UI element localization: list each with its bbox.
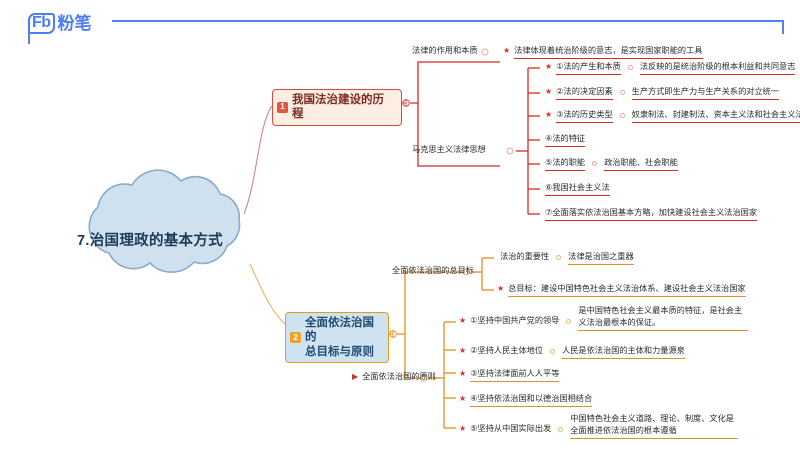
leaf-row-r9[interactable]: 法治的重要性 法律是治国之重器: [500, 251, 634, 265]
star-bullet-icon: ★: [459, 315, 466, 327]
collapse-dot-icon[interactable]: [566, 319, 571, 324]
leaf-row-r1[interactable]: ★ 法律体现着统治阶级的意志，是实现国家职能的工具: [503, 45, 703, 59]
leaf-row-r7[interactable]: ⑥我国社会主义法: [545, 182, 610, 196]
branch-node-1[interactable]: 1 我国法治建设的历程: [272, 89, 402, 126]
branch-1-badge: 1: [277, 102, 288, 113]
branch-node-2[interactable]: 2 全面依法治国的 总目标与原则: [285, 312, 389, 363]
mindmap-canvas: Fb 粉笔: [0, 0, 800, 450]
leaf-row-r4[interactable]: ★ ③法的历史类型 奴隶制法、封建制法、资本主义法和社会主义法: [545, 109, 800, 123]
leaf-label: ③坚持法律面前人人平等: [470, 368, 559, 382]
group-label-text: 马克思主义法律思想: [412, 144, 486, 156]
leaf-label: ④法的特征: [545, 133, 585, 147]
leaf-label: ③法的历史类型: [556, 109, 612, 123]
star-bullet-icon: ★: [459, 423, 466, 435]
root-node[interactable]: 7.治国理政的基本方式: [42, 196, 258, 282]
leaf-row-r5[interactable]: ④法的特征: [545, 133, 585, 147]
leaf-row-r8[interactable]: ⑦全面落实依法治国基本方略，加快建设社会主义法治国家: [545, 207, 757, 221]
branch-2-badge: 2: [290, 332, 301, 343]
leaf-label: ②坚持人民主体地位: [470, 345, 543, 357]
group-label-text: 全面依法治国的原则: [362, 371, 436, 383]
leaf-detail: 法律是治国之重器: [568, 251, 634, 265]
collapse-dot-icon[interactable]: [558, 427, 563, 432]
leaf-label: ①坚持中国共产党的领导: [470, 315, 559, 327]
leaf-row-r12[interactable]: ★ ②坚持人民主体地位 人民是依法治国的主体和力量源泉: [459, 345, 685, 359]
root-node-label: 7.治国理政的基本方式: [42, 196, 258, 282]
group-label-text: 法律的作用和本质: [412, 45, 478, 57]
star-bullet-icon: ★: [459, 393, 466, 405]
collapse-dot-icon[interactable]: [592, 161, 597, 166]
star-bullet-icon: ★: [497, 283, 504, 295]
leaf-detail: 政治职能、社会职能: [604, 157, 678, 171]
star-bullet-icon: ★: [545, 86, 552, 98]
leaf-row-r3[interactable]: ★ ②法的决定因素 生产方式即生产力与生产关系的对立统一: [545, 86, 779, 100]
leaf-label: 法治的重要性: [500, 251, 549, 263]
leaf-detail: 奴隶制法、封建制法、资本主义法和社会主义法: [632, 109, 800, 123]
branch-1-label: 我国法治建设的历程: [292, 93, 394, 122]
collapse-dot-icon[interactable]: [620, 90, 625, 95]
group-label-yuanze[interactable]: ▶ 全面依法治国的原则: [352, 371, 436, 383]
leaf-row-r6[interactable]: ⑤法的职能 政治职能、社会职能: [545, 157, 678, 171]
leaf-label: ⑦全面落实依法治国基本方略，加快建设社会主义法治国家: [545, 207, 757, 221]
collapse-dot-icon[interactable]: [556, 255, 561, 260]
leaf-row-r2[interactable]: ★ ①法的产生和本质 法反映的是统治阶级的根本利益和共同意志: [545, 61, 795, 75]
star-bullet-icon: ★: [459, 345, 466, 357]
group-label-makesi[interactable]: 马克思主义法律思想: [412, 144, 486, 156]
leaf-row-r13[interactable]: ★ ③坚持法律面前人人平等: [459, 368, 559, 382]
leaf-detail: 是中国特色社会主义最本质的特征，是社会主义法治最根本的保证。: [578, 305, 748, 331]
leaf-detail: 法反映的是统治阶级的根本利益和共同意志: [640, 61, 796, 75]
leaf-detail: 生产方式即生产力与生产关系的对立统一: [632, 86, 779, 100]
leaf-label: ⑤坚持从中国实际出发: [470, 423, 551, 435]
group-label-falv-zuoyong[interactable]: 法律的作用和本质: [412, 45, 478, 57]
leaf-label: ⑥我国社会主义法: [545, 182, 610, 196]
leaf-row-r10[interactable]: ★ 总目标：建设中国特色社会主义法治体系、建设社会主义法治国家: [497, 283, 746, 297]
triangle-bullet-icon: ▶: [352, 371, 358, 383]
leaf-label: ①法的产生和本质: [556, 61, 621, 75]
group-label-text: 全面依法治国的总目标: [392, 265, 474, 277]
star-bullet-icon: ★: [459, 368, 466, 380]
star-bullet-icon: ★: [545, 61, 552, 73]
star-bullet-icon: ★: [503, 45, 510, 57]
leaf-detail: 中国特色社会主义道路、理论、制度、文化是全面推进依法治国的根本遵循: [570, 413, 738, 439]
leaf-row-r15[interactable]: ★ ⑤坚持从中国实际出发 中国特色社会主义道路、理论、制度、文化是全面推进依法治…: [459, 423, 738, 439]
collapse-dot-icon[interactable]: [620, 113, 625, 118]
group-label-zongmubiao[interactable]: 全面依法治国的总目标: [392, 265, 474, 277]
leaf-label: ②法的决定因素: [556, 86, 612, 100]
star-bullet-icon: ★: [545, 109, 552, 121]
leaf-label: 法律体现着统治阶级的意志，是实现国家职能的工具: [514, 45, 702, 59]
branch-2-label: 全面依法治国的 总目标与原则: [305, 316, 381, 359]
leaf-row-r14[interactable]: ★ ④坚持依法治国和以德治国相结合: [459, 393, 592, 407]
leaf-detail: 人民是依法治国的主体和力量源泉: [562, 345, 685, 359]
leaf-label: ⑤法的职能: [545, 157, 585, 171]
leaf-row-r11[interactable]: ★ ①坚持中国共产党的领导 是中国特色社会主义最本质的特征，是社会主义法治最根本…: [459, 315, 748, 331]
collapse-dot-icon[interactable]: [628, 65, 633, 70]
collapse-dot-icon[interactable]: [550, 349, 555, 354]
leaf-label: ④坚持依法治国和以德治国相结合: [470, 393, 592, 407]
leaf-label: 总目标：建设中国特色社会主义法治体系、建设社会主义法治国家: [508, 283, 745, 297]
